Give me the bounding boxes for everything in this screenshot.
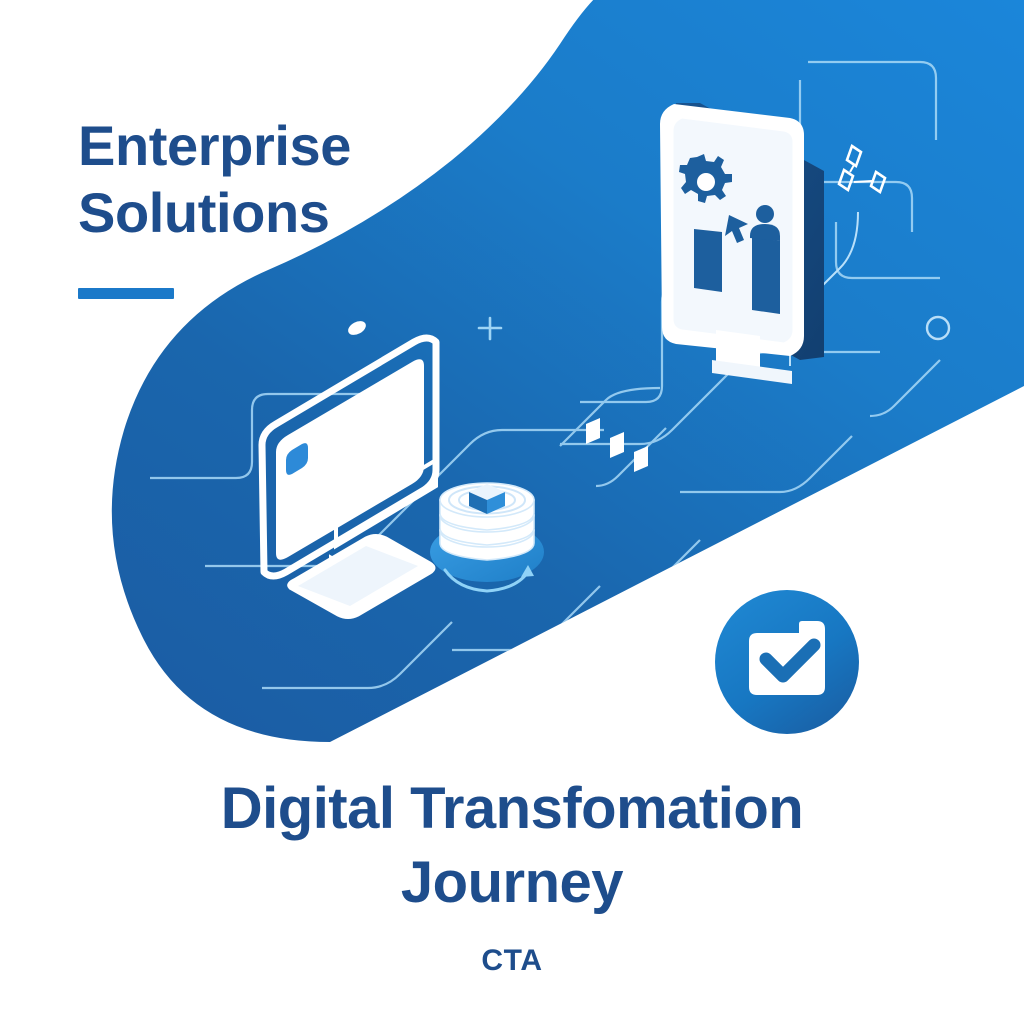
headline-line-2: Solutions (78, 179, 498, 246)
headline-line-1: Enterprise (78, 112, 498, 179)
cta-label[interactable]: CTA (0, 944, 1024, 978)
check-square-badge-icon[interactable] (713, 588, 861, 736)
bottom-title-line-1: Digital Transfomation (0, 772, 1024, 846)
isometric-dashboard-screen (660, 103, 824, 384)
bottom-title-line-2: Journey (0, 846, 1024, 920)
isometric-database-stack (430, 483, 544, 591)
headline-block: Enterprise Solutions (78, 112, 498, 246)
poster-canvas: Enterprise Solutions Digital Transfomati… (0, 0, 1024, 1024)
bottom-title-block: Digital Transfomation Journey CTA (0, 772, 1024, 978)
accent-rule (78, 288, 174, 299)
